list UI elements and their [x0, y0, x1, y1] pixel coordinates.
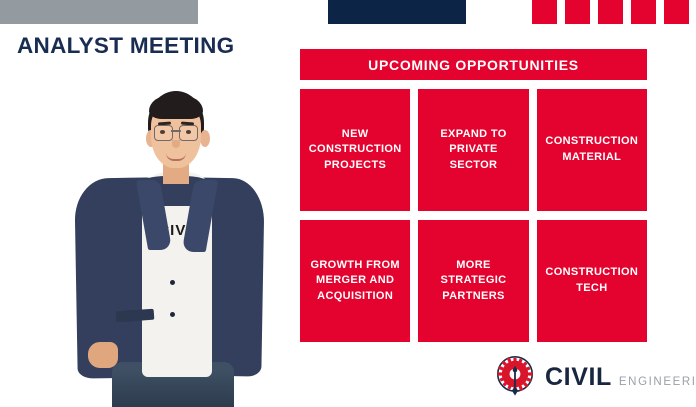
- decor-square: [631, 0, 656, 24]
- logo-primary-text: CIVIL: [545, 363, 612, 392]
- opportunity-cell[interactable]: MORE STRATEGIC PARTNERS: [418, 220, 528, 342]
- opportunity-cell[interactable]: CONSTRUCTION MATERIAL: [537, 89, 647, 211]
- ear-right: [200, 130, 210, 147]
- brand-logo: CIVIL ENGINEERING: [494, 355, 696, 399]
- nose: [172, 140, 180, 148]
- opportunity-cell[interactable]: CONSTRUCTION TECH: [537, 220, 647, 342]
- opportunity-cell[interactable]: EXPAND TO PRIVATE SECTOR: [418, 89, 528, 211]
- decor-squares-group: [532, 0, 689, 24]
- opportunity-label: CONSTRUCTION MATERIAL: [545, 134, 638, 165]
- hand: [88, 342, 118, 368]
- opportunities-panel: UPCOMING OPPORTUNITIES NEW CONSTRUCTION …: [300, 49, 647, 342]
- panel-header: UPCOMING OPPORTUNITIES: [300, 49, 647, 80]
- opportunity-label: NEW CONSTRUCTION PROJECTS: [309, 127, 402, 174]
- opportunity-label: MORE STRATEGIC PARTNERS: [441, 258, 507, 305]
- opportunity-cell[interactable]: NEW CONSTRUCTION PROJECTS: [300, 89, 410, 211]
- glasses-lens-left: [154, 125, 173, 141]
- opportunity-label: GROWTH FROM MERGER AND ACQUISITION: [310, 258, 399, 305]
- glasses-lens-right: [179, 125, 198, 141]
- decor-bar-gray: [0, 0, 198, 24]
- decor-square: [664, 0, 689, 24]
- slide-title: ANALYST MEETING: [17, 33, 234, 59]
- opportunity-label: CONSTRUCTION TECH: [545, 265, 638, 296]
- blazer-button: [170, 280, 175, 285]
- presenter-photo: CIVIL: [60, 80, 285, 405]
- decor-square: [532, 0, 557, 24]
- opportunities-grid: NEW CONSTRUCTION PROJECTS EXPAND TO PRIV…: [300, 89, 647, 342]
- logo-wordmark: CIVIL ENGINEERING: [545, 363, 696, 392]
- opportunity-cell[interactable]: GROWTH FROM MERGER AND ACQUISITION: [300, 220, 410, 342]
- blazer-button: [170, 312, 175, 317]
- decor-bar-navy: [328, 0, 466, 24]
- panel-header-title: UPCOMING OPPORTUNITIES: [368, 57, 579, 73]
- glasses-icon: [154, 125, 198, 140]
- decor-square: [598, 0, 623, 24]
- opportunity-label: EXPAND TO PRIVATE SECTOR: [426, 127, 520, 174]
- logo-secondary-text: ENGINEERING: [619, 376, 696, 388]
- gear-circle-icon: [494, 355, 536, 399]
- hair-fringe: [149, 95, 203, 119]
- decor-square: [565, 0, 590, 24]
